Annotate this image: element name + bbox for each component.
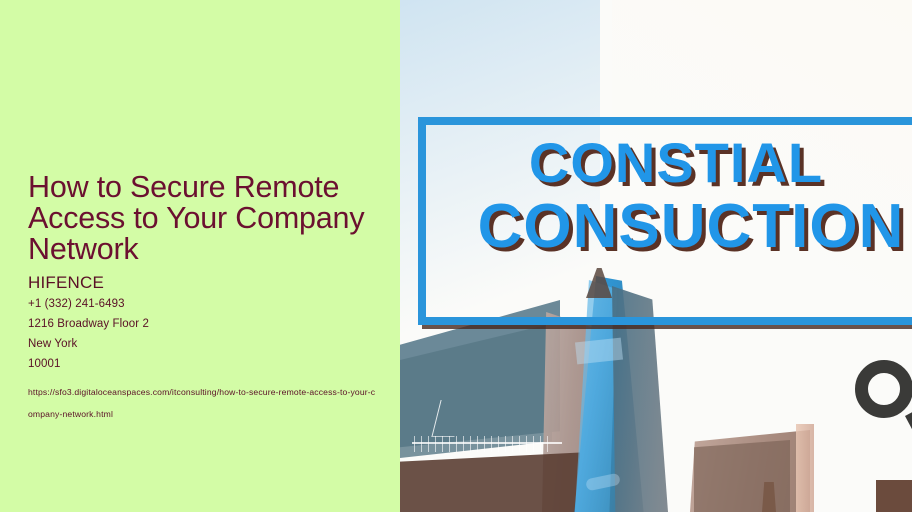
zip-code: 10001 [28,354,400,374]
left-text-panel: How to Secure Remote Access to Your Comp… [0,0,400,512]
building-right-edge [796,424,814,512]
foreground-post-right [876,480,912,512]
phone-number: +1 (332) 241-6493 [28,294,400,314]
railing-texture [414,436,554,452]
magnifier-handle-icon [905,410,912,446]
ground-slab [400,452,590,512]
page-root: How to Secure Remote Access to Your Comp… [0,0,912,512]
building-right-shade [694,440,790,512]
railing-bar [412,442,562,444]
foreground-post [762,482,776,512]
source-url[interactable]: https://sfo3.digitaloceanspaces.com/itco… [28,381,378,425]
sign-frame-border [418,117,912,325]
page-title: How to Secure Remote Access to Your Comp… [28,172,400,265]
city-name: New York [28,334,400,354]
address-line: 1216 Broadway Floor 2 [28,314,400,334]
hero-image-panel: CONSTIAL CONSUCTION [400,0,912,512]
magnifier-lens-icon [855,360,912,418]
brand-name: HIFENCE [28,272,400,294]
article-info-block: How to Secure Remote Access to Your Comp… [28,172,400,425]
